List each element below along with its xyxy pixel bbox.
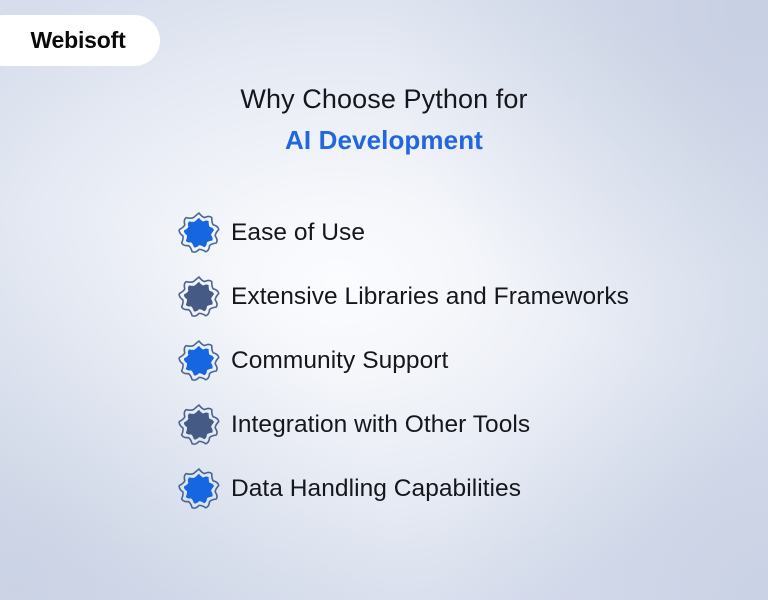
- feature-item: Integration with Other Tools: [178, 401, 738, 449]
- rosette-star-icon: [178, 212, 220, 254]
- page-title-line2-highlight: AI Development: [0, 122, 768, 158]
- feature-item-label: Ease of Use: [231, 219, 365, 247]
- rosette-star-icon: [178, 404, 220, 446]
- slide-canvas: Webisoft Why Choose Python for AI Develo…: [0, 0, 768, 600]
- feature-item-label: Extensive Libraries and Frameworks: [231, 283, 629, 311]
- rosette-star-icon: [178, 468, 220, 510]
- feature-list: Ease of UseExtensive Libraries and Frame…: [178, 209, 738, 513]
- rosette-star-icon: [178, 340, 220, 382]
- brand-logo: Webisoft: [0, 15, 160, 66]
- page-title: Why Choose Python for AI Development: [0, 82, 768, 158]
- feature-item: Extensive Libraries and Frameworks: [178, 273, 738, 321]
- rosette-star-icon: [178, 276, 220, 318]
- brand-logo-text: Webisoft: [30, 27, 125, 54]
- feature-item-label: Community Support: [231, 347, 448, 375]
- feature-item: Data Handling Capabilities: [178, 465, 738, 513]
- feature-item: Ease of Use: [178, 209, 738, 257]
- feature-item: Community Support: [178, 337, 738, 385]
- page-title-line1: Why Choose Python for: [0, 82, 768, 118]
- feature-item-label: Integration with Other Tools: [231, 411, 530, 439]
- feature-item-label: Data Handling Capabilities: [231, 475, 521, 503]
